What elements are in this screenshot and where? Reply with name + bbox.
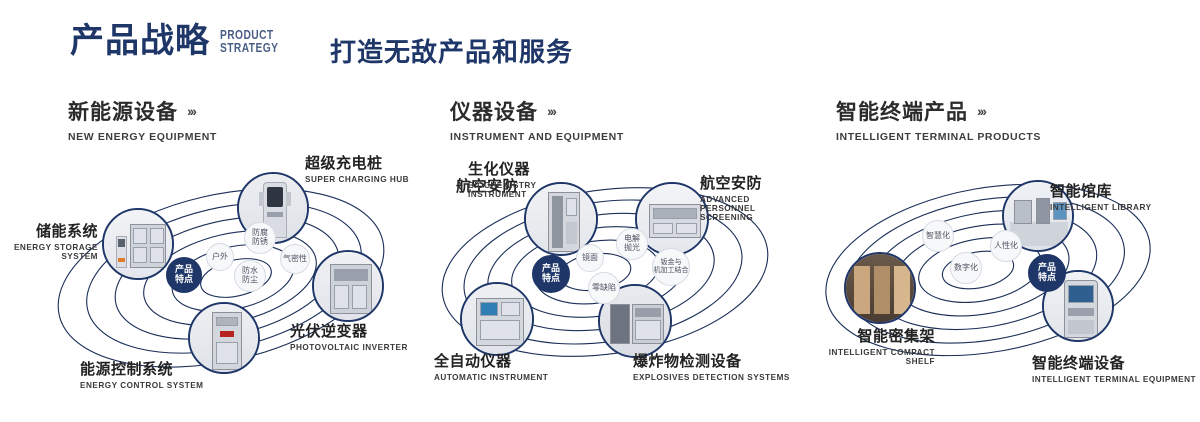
feature-label: 零缺陷 (592, 284, 616, 293)
chevron-right-icon: ››› (547, 103, 555, 119)
feature-digitalization[interactable]: 数字化 (950, 252, 982, 284)
infographic-canvas: 产品战略 PRODUCT STRATEGY 打造无敌产品和服务 新能源设备 ››… (0, 0, 1200, 422)
feature-zero-defect[interactable]: 零缺陷 (588, 272, 620, 304)
label-explosives-detection-systems: 爆炸物检测设备 EXPLOSIVES DETECTION SYSTEMS (633, 350, 813, 382)
node-photovoltaic-inverter[interactable] (312, 250, 384, 322)
feature-mirror-finish[interactable]: 镜面 (576, 244, 604, 272)
section-title-en: INSTRUMENT AND EQUIPMENT (450, 131, 624, 143)
feature-core-product-traits[interactable]: 产品 特点 (1028, 254, 1066, 292)
core-label: 产品 特点 (1038, 263, 1056, 283)
label-intelligent-library: 智能馆库 INTELLIGENT LIBRARY (1050, 180, 1200, 212)
feature-label: 智慧化 (926, 232, 950, 241)
feature-intelligentization[interactable]: 智慧化 (922, 220, 954, 252)
section-label: 仪器设备 (450, 96, 538, 126)
feature-electrolytic-polishing[interactable]: 电解 抛光 (616, 228, 648, 260)
label-en: EXPLOSIVES DETECTION SYSTEMS (633, 373, 813, 382)
label-cn: 生化仪器 (468, 158, 588, 179)
page-subtitle: 打造无敌产品和服务 (330, 32, 573, 69)
section-title-cn: 新能源设备 ››› (68, 96, 217, 126)
cluster-instrument: 产品 特点 镜面 电解 抛光 钣金与 机加工结合 零缺陷 航空安防 生化仪器 B… (420, 160, 820, 390)
feature-label: 户外 (212, 253, 228, 262)
compact-shelf-photo (846, 254, 914, 322)
label-en: ENERGY STORAGE SYSTEM (0, 243, 98, 261)
label-cn: 爆炸物检测设备 (633, 350, 813, 371)
section-heading-new-energy: 新能源设备 ››› NEW ENERGY EQUIPMENT (68, 96, 217, 143)
label-cn: 智能终端设备 (1032, 352, 1200, 373)
energy-storage-photo (104, 210, 172, 278)
label-cn: 智能密集架 (805, 325, 935, 346)
section-title-en: INTELLIGENT TERMINAL PRODUCTS (836, 131, 1041, 143)
section-label: 新能源设备 (68, 96, 178, 126)
feature-label: 电解 抛光 (624, 235, 640, 253)
core-label: 产品 特点 (542, 264, 560, 284)
label-cn: 全自动仪器 (434, 350, 594, 371)
node-intelligent-compact-shelf[interactable] (844, 252, 916, 324)
feature-label: 人性化 (994, 242, 1018, 251)
feature-waterproof-dustproof[interactable]: 防水 防尘 (234, 260, 266, 292)
label-photovoltaic-inverter: 光伏逆变器 PHOTOVOLTAIC INVERTER (290, 320, 440, 352)
label-en: ADVANCED PERSONNEL SCREENING (700, 195, 792, 222)
feature-core-product-traits[interactable]: 产品 特点 (166, 257, 202, 293)
label-en: ENERGY CONTROL SYSTEM (80, 381, 260, 390)
title-cn: 产品战略 (70, 24, 210, 58)
feature-humanization[interactable]: 人性化 (990, 230, 1022, 262)
label-energy-storage-system: 储能系统 ENERGY STORAGE SYSTEM (0, 220, 98, 261)
label-en: INTELLIGENT TERMINAL EQUIPMENT (1032, 375, 1200, 384)
feature-airtightness[interactable]: 气密性 (280, 244, 310, 274)
label-intelligent-terminal-equipment: 智能终端设备 INTELLIGENT TERMINAL EQUIPMENT (1032, 352, 1200, 384)
feature-label: 钣金与 机加工结合 (654, 259, 689, 274)
feature-core-product-traits[interactable]: 产品 特点 (532, 255, 570, 293)
label-cn: 光伏逆变器 (290, 320, 440, 341)
page-title: 产品战略 PRODUCT STRATEGY (70, 24, 291, 58)
section-heading-intelligent: 智能终端产品 ››› INTELLIGENT TERMINAL PRODUCTS (836, 96, 1041, 143)
automatic-instrument-photo (462, 284, 532, 354)
feature-sheetmetal-machining[interactable]: 钣金与 机加工结合 (652, 248, 690, 286)
node-automatic-instrument[interactable] (460, 282, 534, 356)
section-title-cn: 仪器设备 ››› (450, 96, 624, 126)
section-title-en: NEW ENERGY EQUIPMENT (68, 131, 217, 143)
feature-label: 防水 防尘 (242, 267, 258, 285)
feature-label: 镜面 (582, 254, 598, 263)
chevron-right-icon: ››› (187, 103, 195, 119)
section-title-cn: 智能终端产品 ››› (836, 96, 1041, 126)
title-en: PRODUCT STRATEGY (220, 29, 278, 55)
label-en: INTELLIGENT LIBRARY (1050, 203, 1200, 212)
label-automatic-instrument: 全自动仪器 AUTOMATIC INSTRUMENT (434, 350, 594, 382)
core-label: 产品 特点 (175, 265, 193, 285)
cluster-new-energy: 产品 特点 户外 防腐 防锈 防水 防尘 气密性 储能系统 ENERGY STO… (40, 160, 440, 390)
label-energy-control-system: 能源控制系统 ENERGY CONTROL SYSTEM (80, 358, 260, 390)
label-en: BIOCHEMISTRY INSTRUMENT (468, 181, 540, 199)
section-heading-instrument: 仪器设备 ››› INSTRUMENT AND EQUIPMENT (450, 96, 624, 143)
label-cn: 能源控制系统 (80, 358, 260, 379)
feature-label: 气密性 (283, 255, 307, 264)
inverter-photo (314, 252, 382, 320)
label-biochemistry-instrument: 生化仪器 BIOCHEMISTRY INSTRUMENT (468, 158, 588, 199)
feature-outdoor[interactable]: 户外 (206, 243, 234, 271)
label-en: AUTOMATIC INSTRUMENT (434, 373, 594, 382)
cluster-intelligent-terminal: 产品 特点 智慧化 数字化 人性化 智能馆库 INTELLIGENT LIBRA… (810, 160, 1200, 390)
feature-anticorrosion[interactable]: 防腐 防锈 (244, 222, 276, 254)
label-cn: 智能馆库 (1050, 180, 1200, 201)
label-en: INTELLIGENT COMPACT SHELF (805, 348, 935, 366)
label-cn: 储能系统 (0, 220, 98, 241)
node-energy-storage-system[interactable] (102, 208, 174, 280)
title-en-line1: PRODUCT (220, 29, 278, 42)
title-en-line2: STRATEGY (220, 42, 278, 55)
feature-label: 数字化 (954, 264, 978, 273)
label-intelligent-compact-shelf: 智能密集架 INTELLIGENT COMPACT SHELF (805, 325, 935, 366)
label-en: PHOTOVOLTAIC INVERTER (290, 343, 440, 352)
feature-label: 防腐 防锈 (252, 229, 268, 247)
section-label: 智能终端产品 (836, 96, 968, 126)
chevron-right-icon: ››› (977, 103, 985, 119)
